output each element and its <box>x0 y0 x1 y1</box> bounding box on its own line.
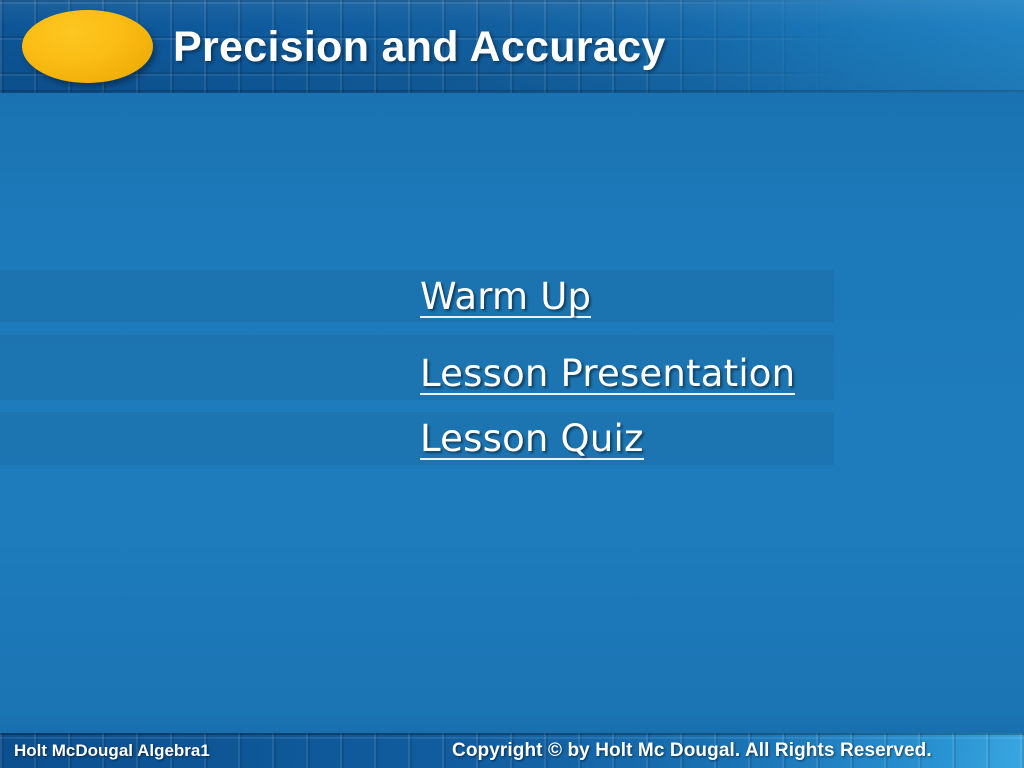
page-title: Precision and Accuracy <box>173 18 873 76</box>
presentation-slide: Precision and Accuracy Warm Up Lesson Pr… <box>0 0 1024 768</box>
slide-footer-bar: Holt McDougal Algebra1 Copyright © by Ho… <box>0 733 1024 768</box>
menu-link-lesson-presentation[interactable]: Lesson Presentation <box>420 355 795 395</box>
yellow-ellipse-icon <box>22 10 153 83</box>
menu-band-warm-up: Warm Up <box>0 270 834 322</box>
menu-band-lesson-quiz: Lesson Quiz <box>0 412 834 465</box>
lesson-menu: Warm Up Lesson Presentation Lesson Quiz <box>0 270 1024 465</box>
menu-link-warm-up[interactable]: Warm Up <box>420 278 591 318</box>
footer-book-title: Holt McDougal Algebra1 <box>14 733 210 768</box>
footer-copyright-text: Copyright © by Holt Mc Dougal. All Right… <box>452 733 932 768</box>
menu-band-lesson-presentation: Lesson Presentation <box>0 335 834 400</box>
header-bottom-divider <box>0 90 1024 93</box>
menu-link-lesson-quiz[interactable]: Lesson Quiz <box>420 420 644 460</box>
slide-header-bar: Precision and Accuracy <box>0 0 1024 93</box>
